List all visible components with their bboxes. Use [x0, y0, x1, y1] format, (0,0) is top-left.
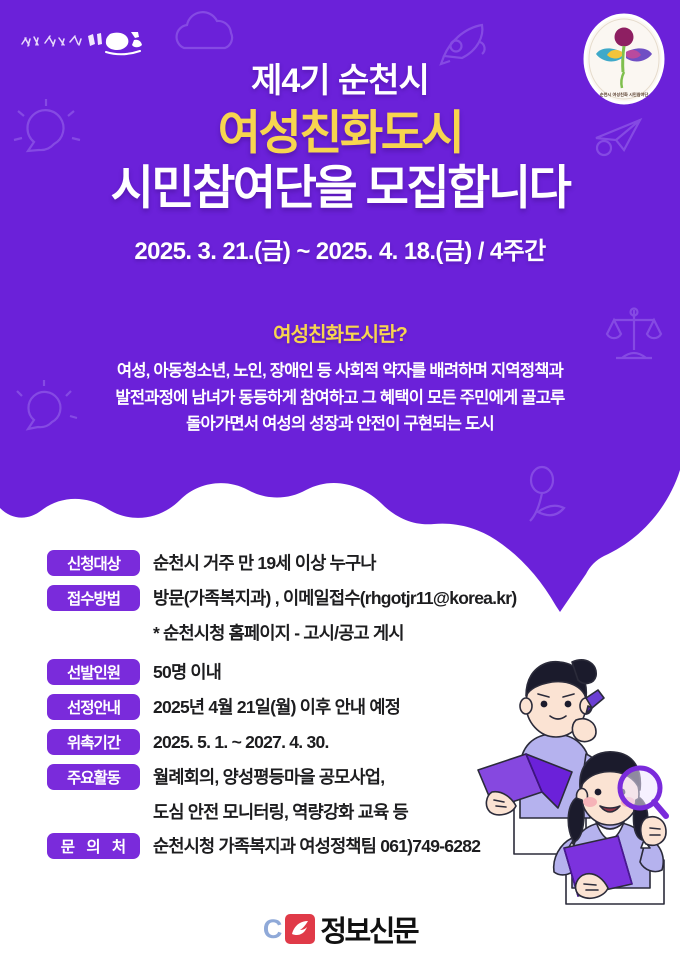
badge-application: 접수방법	[47, 585, 140, 611]
definition-block: 여성친화도시란? 여성, 아동청소년, 노인, 장애인 등 사회적 약자를 배려…	[0, 318, 680, 438]
value-contact: 순천시청 가족복지과 여성정책팀 061)749-6282	[153, 831, 480, 861]
characters-illustration	[468, 642, 678, 912]
value-notification: 2025년 4월 21일(월) 이후 안내 예정	[153, 692, 400, 722]
detail-row-eligibility: 신청대상 순천시 거주 만 19세 이상 누구나	[47, 548, 587, 579]
character-with-book	[478, 660, 604, 854]
footer-logo: C 정보신문	[0, 908, 680, 950]
poster-root: 순천시 여성친화 시민참여단 제4기 순천시 여성친화도시 시민참여단을 모집합…	[0, 0, 680, 964]
value-term: 2025. 5. 1. ~ 2027. 4. 30.	[153, 727, 329, 757]
footer-logo-text: 정보신문	[320, 908, 417, 950]
footer-mark-prefix: C	[263, 914, 281, 945]
value-application: 방문(가족복지과) , 이메일접수(rhgotjr11@korea.kr)	[153, 583, 516, 613]
badge-activities: 주요활동	[47, 764, 140, 790]
definition-body: 여성, 아동청소년, 노인, 장애인 등 사회적 약자를 배려하며 지역정책과 …	[0, 358, 680, 438]
title-line-1: 제4기 순천시	[0, 60, 680, 103]
city-logo	[18, 28, 144, 62]
definition-line-2: 발전과정에 남녀가 동등하게 참여하고 그 혜택이 모든 주민에게 골고루	[0, 385, 680, 412]
definition-heading: 여성친화도시란?	[0, 318, 680, 347]
badge-notification: 선정안내	[47, 694, 140, 720]
value-eligibility: 순천시 거주 만 19세 이상 누구나	[153, 548, 376, 578]
badge-term: 위촉기간	[47, 729, 140, 755]
title-line-2: 여성친화도시	[0, 105, 680, 160]
value-quota: 50명 이내	[153, 657, 221, 687]
title-line-3: 시민참여단을 모집합니다	[0, 160, 680, 215]
badge-quota: 선발인원	[47, 659, 140, 685]
recruitment-period: 2025. 3. 21.(금) ~ 2025. 4. 18.(금) / 4주간	[0, 231, 680, 266]
badge-contact: 문 의 처	[47, 833, 140, 859]
newspaper-bird-icon	[285, 914, 315, 944]
value-activities: 월례회의, 양성평등마을 공모사업,	[153, 762, 384, 792]
title-block: 제4기 순천시 여성친화도시 시민참여단을 모집합니다 2025. 3. 21.…	[0, 60, 680, 266]
badge-eligibility: 신청대상	[47, 550, 140, 576]
detail-row-application: 접수방법 방문(가족복지과) , 이메일접수(rhgotjr11@korea.k…	[47, 583, 587, 614]
definition-line-1: 여성, 아동청소년, 노인, 장애인 등 사회적 약자를 배려하며 지역정책과	[0, 358, 680, 385]
definition-line-3: 돌아가면서 여성의 성장과 안전이 구현되는 도시	[0, 411, 680, 438]
